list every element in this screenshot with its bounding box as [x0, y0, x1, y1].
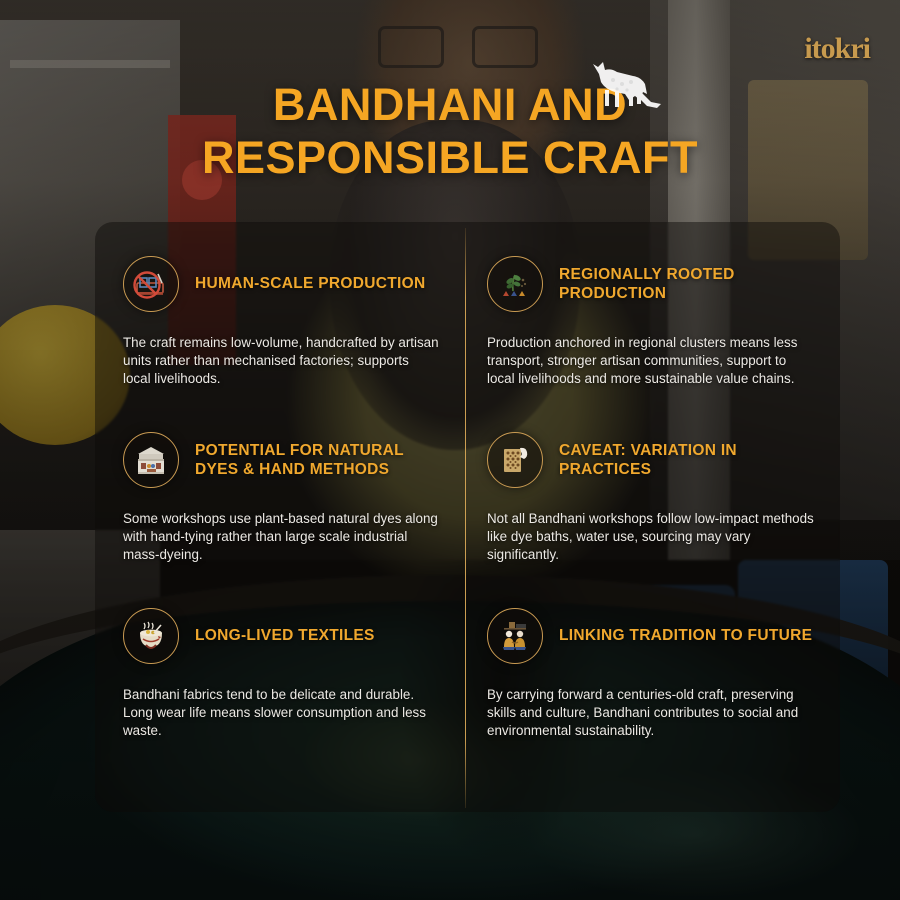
card-title: POTENTIAL FOR NATURAL DYES & HAND METHOD… — [195, 441, 439, 479]
feature-card-long-lived-textiles: LONG-LIVED TEXTILES Bandhani fabrics ten… — [95, 574, 465, 812]
card-body: Production anchored in regional clusters… — [487, 334, 814, 389]
card-body: Not all Bandhani workshops follow low-im… — [487, 510, 814, 565]
artisan-workshop-building-icon — [123, 432, 179, 488]
page-title-line-2: RESPONSIBLE CRAFT — [0, 131, 900, 184]
card-header: LINKING TRADITION TO FUTURE — [487, 608, 814, 664]
feature-card-natural-dyes-hand-methods: POTENTIAL FOR NATURAL DYES & HAND METHOD… — [95, 398, 465, 574]
patterned-fabric-swatch-hand-icon — [487, 432, 543, 488]
page-title: BANDHANI AND RESPONSIBLE CRAFT — [0, 78, 900, 184]
card-body: By carrying forward a centuries-old craf… — [487, 686, 814, 741]
card-body: The craft remains low-volume, handcrafte… — [123, 334, 439, 389]
two-seated-artisans-icon — [487, 608, 543, 664]
card-title: HUMAN-SCALE PRODUCTION — [195, 274, 425, 293]
card-header: HUMAN-SCALE PRODUCTION — [123, 256, 439, 312]
no-factory-machine-icon — [123, 256, 179, 312]
feature-card-human-scale-production: HUMAN-SCALE PRODUCTION The craft remains… — [95, 222, 465, 398]
itokri-logo[interactable]: itokri — [804, 32, 870, 66]
card-body: Some workshops use plant-based natural d… — [123, 510, 439, 565]
feature-card-caveat-variation-in-practices: CAVEAT: VARIATION IN PRACTICES Not all B… — [465, 398, 840, 574]
card-header: REGIONALLY ROOTED PRODUCTION — [487, 256, 814, 312]
feature-card-regionally-rooted-production: REGIONALLY ROOTED PRODUCTION Production … — [465, 222, 840, 398]
card-header: CAVEAT: VARIATION IN PRACTICES — [487, 432, 814, 488]
infographic-poster: itokri BANDHANI AND RESPONSIBLE CRAFT — [0, 0, 900, 900]
card-body: Bandhani fabrics tend to be delicate and… — [123, 686, 439, 741]
feature-card-linking-tradition-to-future: LINKING TRADITION TO FUTURE By carrying … — [465, 574, 840, 812]
card-title: LONG-LIVED TEXTILES — [195, 626, 375, 645]
card-header: POTENTIAL FOR NATURAL DYES & HAND METHOD… — [123, 432, 439, 488]
card-header: LONG-LIVED TEXTILES — [123, 608, 439, 664]
card-title: CAVEAT: VARIATION IN PRACTICES — [559, 441, 814, 479]
card-title: REGIONALLY ROOTED PRODUCTION — [559, 265, 814, 303]
plant-sprig-dye-mounds-icon — [487, 256, 543, 312]
page-title-line-1: BANDHANI AND — [0, 78, 900, 131]
card-title: LINKING TRADITION TO FUTURE — [559, 626, 812, 645]
feature-grid: HUMAN-SCALE PRODUCTION The craft remains… — [95, 222, 840, 812]
steaming-dye-pot-icon — [123, 608, 179, 664]
